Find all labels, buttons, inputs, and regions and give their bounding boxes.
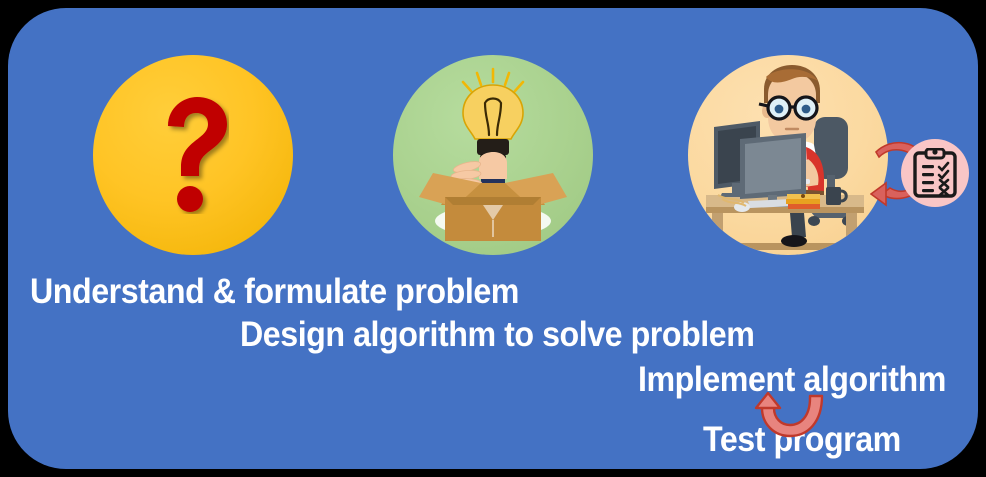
step-label-design: Design algorithm to solve problem bbox=[240, 316, 754, 354]
lightbulb-in-box-icon bbox=[393, 55, 593, 255]
step-label-understand: Understand & formulate problem bbox=[30, 273, 519, 311]
question-mark-icon bbox=[93, 55, 293, 255]
checklist-clipboard-icon bbox=[912, 148, 958, 198]
diagram-canvas: Understand & formulate problem Design al… bbox=[0, 0, 986, 477]
stage-circle-test bbox=[901, 139, 969, 207]
programmer-at-desk-icon bbox=[688, 55, 888, 255]
stage-circle-understand bbox=[93, 55, 293, 255]
diagram-panel: Understand & formulate problem Design al… bbox=[8, 8, 978, 469]
iterate-loop-arrow-icon bbox=[752, 392, 828, 438]
stage-circle-design bbox=[393, 55, 593, 255]
stage-circle-implement bbox=[688, 55, 888, 255]
